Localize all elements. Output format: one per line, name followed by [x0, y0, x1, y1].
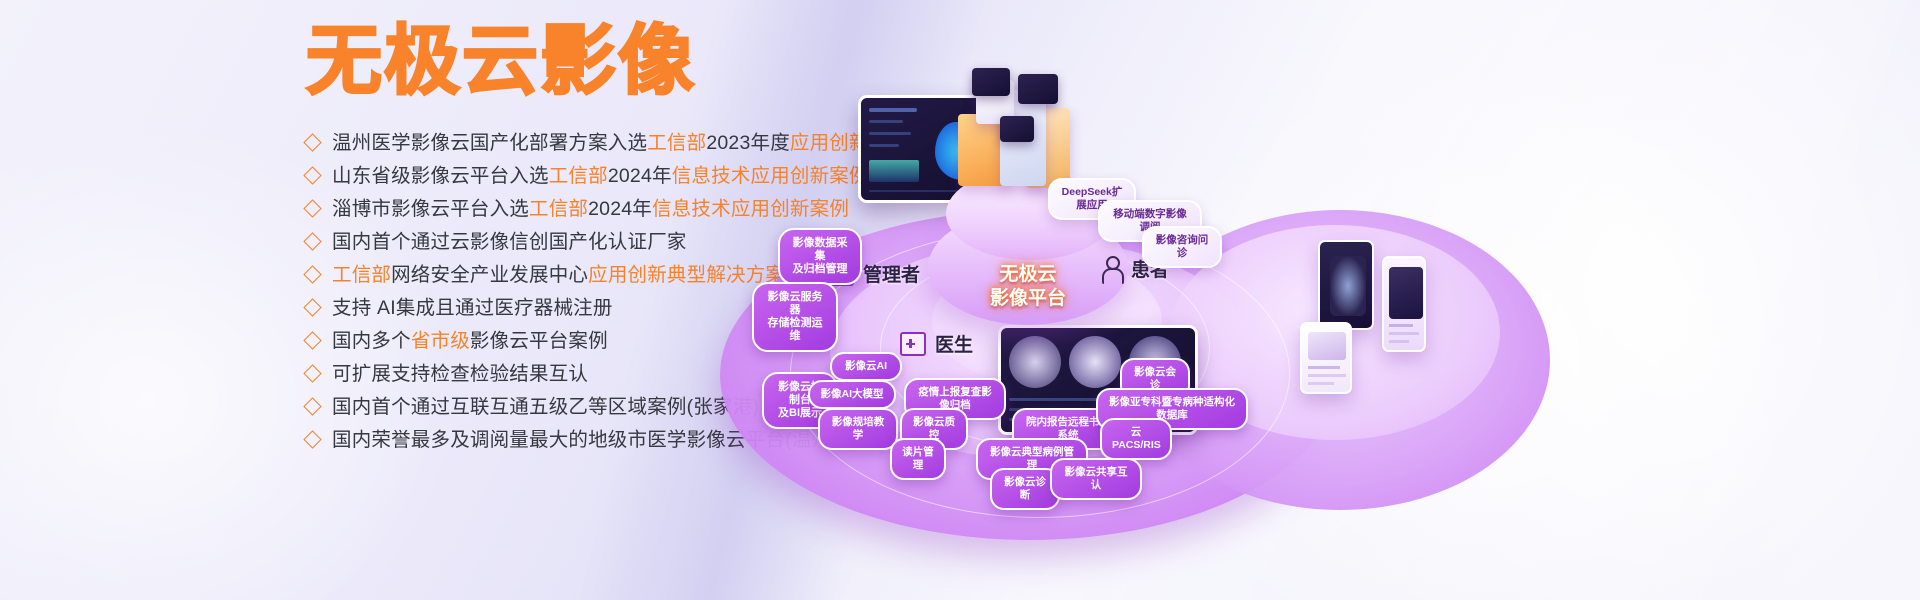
diamond-icon: [303, 166, 321, 184]
text-plain: 2024年: [588, 198, 652, 220]
diamond-icon: [303, 265, 321, 283]
text-highlight: 工信部: [549, 165, 608, 187]
info-pill[interactable]: 影像规培教学: [818, 408, 898, 450]
text-plain: 网络安全产业发展中心: [391, 264, 588, 286]
platform-illustration: 无极云 影像平台 管理者 医生 患者: [700, 60, 1920, 600]
achievement-text: 支持 AI集成且通过医疗器械注册: [332, 295, 613, 322]
diamond-icon: [303, 133, 321, 151]
diamond-icon: [303, 199, 321, 217]
info-pill[interactable]: 云PACS/RIS: [1100, 418, 1172, 460]
center-label-line2: 影像平台: [962, 287, 1094, 311]
phone-panel: [1382, 256, 1426, 352]
xray-panel: [1318, 240, 1374, 330]
promo-banner: 无极云影像 温州医学影像云国产化部署方案入选工信部2023年度应用创新应用示范案…: [0, 0, 1920, 600]
role-doctor: 医生: [900, 330, 973, 357]
achievement-text: 国内多个省市级影像云平台案例: [332, 328, 608, 355]
text-highlight: 工信部: [332, 264, 391, 286]
role-doctor-label: 医生: [935, 330, 973, 357]
page-title: 无极云影像: [306, 23, 696, 99]
diamond-icon: [303, 364, 321, 382]
diamond-icon: [303, 298, 321, 316]
text-plain: 2024年: [608, 165, 672, 187]
info-pill[interactable]: 影像云AI: [830, 352, 902, 381]
mini-screen-2: [1018, 74, 1058, 104]
mini-screen-3: [1000, 116, 1034, 142]
text-plain: 支持 AI集成且通过医疗器械注册: [332, 297, 613, 319]
info-pill[interactable]: 影像云服务器 存储检测运维: [752, 282, 838, 352]
info-pill[interactable]: 影像咨询问诊: [1142, 226, 1222, 268]
diamond-icon: [303, 430, 321, 448]
diamond-icon: [303, 331, 321, 349]
diamond-icon: [303, 232, 321, 250]
mini-screen-1: [972, 68, 1010, 96]
achievement-text: 可扩展支持检查检验结果互认: [332, 361, 588, 388]
achievement-text: 国内首个通过互联互通五级乙等区域案例(张家港): [332, 394, 759, 421]
info-pill[interactable]: 影像AI大模型: [808, 380, 896, 409]
text-plain: 温州医学影像云国产化部署方案入选: [332, 132, 647, 154]
text-plain: 可扩展支持检查检验结果互认: [332, 363, 588, 385]
text-highlight: 工信部: [647, 132, 706, 154]
text-highlight: 工信部: [529, 198, 588, 220]
text-plain: 国内首个通过云影像信创国产化认证厂家: [332, 231, 687, 253]
person-icon: [1100, 256, 1122, 282]
info-pill[interactable]: 影像云共享互认: [1050, 458, 1142, 500]
center-platform-label: 无极云 影像平台: [962, 263, 1094, 311]
center-label-line1: 无极云: [999, 264, 1056, 285]
text-highlight: 省市级: [411, 330, 470, 352]
info-pill[interactable]: 影像数据采集 及归档管理: [778, 228, 862, 285]
text-plain: 国内首个通过互联互通五级乙等区域案例(张家港): [332, 396, 759, 418]
hospital-plus-icon: [900, 332, 926, 356]
achievement-text: 国内首个通过云影像信创国产化认证厂家: [332, 229, 687, 256]
text-plain: 影像云平台案例: [470, 330, 608, 352]
text-plain: 淄博市影像云平台入选: [332, 198, 529, 220]
info-pill[interactable]: 读片管理: [890, 438, 946, 480]
role-admin-label: 管理者: [863, 260, 920, 287]
text-plain: 山东省级影像云平台入选: [332, 165, 549, 187]
diamond-icon: [303, 397, 321, 415]
document-panel: [1300, 322, 1352, 394]
text-plain: 国内多个: [332, 330, 411, 352]
